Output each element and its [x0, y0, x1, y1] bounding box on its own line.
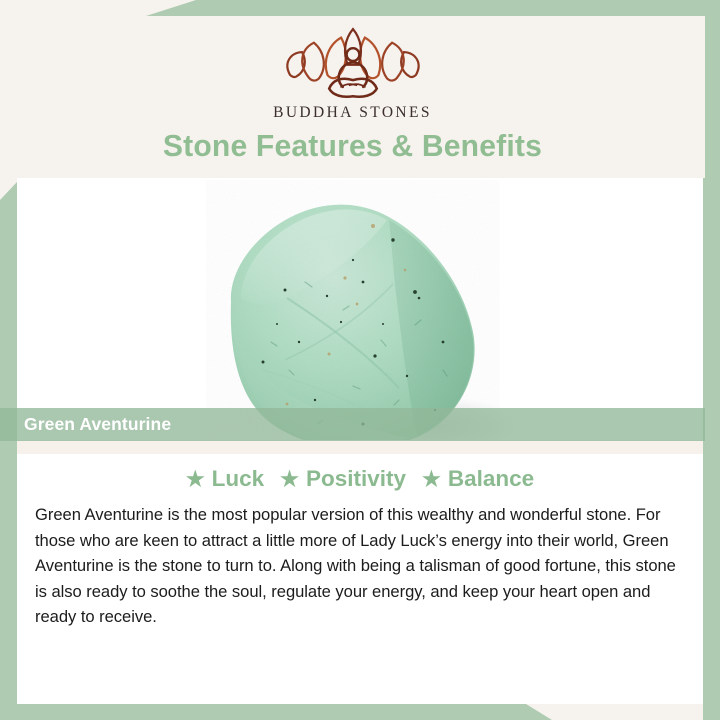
keyword-label: Luck: [212, 466, 265, 492]
keyword-balance: ★ Balance: [422, 466, 534, 492]
frame-left-bar: [0, 182, 17, 720]
section-title-wrap: Stone Features & Benefits: [0, 128, 705, 164]
stone-name-band: Green Aventurine: [0, 408, 705, 441]
page-title: Stone Features & Benefits: [163, 128, 542, 164]
star-icon: ★: [186, 469, 205, 490]
brand-name: BUDDHA STONES: [273, 104, 432, 122]
keyword-label: Positivity: [306, 466, 406, 492]
frame-right-bar: [703, 0, 720, 720]
stone-description-text: Green Aventurine is the most popular ver…: [35, 502, 687, 630]
frame-bottom-band: [0, 704, 720, 720]
green-aventurine-stone-image: [167, 178, 519, 440]
infographic-card: BUDDHA STONES Stone Features & Benefits: [0, 0, 720, 720]
brand-logo: BUDDHA STONES: [0, 24, 705, 122]
frame-top-band: [0, 0, 720, 16]
stone-description-area: ★ Luck ★ Positivity ★ Balance Green Aven…: [17, 453, 703, 704]
keyword-positivity: ★ Positivity: [280, 466, 406, 492]
star-icon: ★: [280, 469, 299, 490]
keyword-label: Balance: [448, 466, 534, 492]
keyword-luck: ★ Luck: [186, 466, 264, 492]
lotus-meditation-figure-icon: [268, 24, 438, 102]
star-icon: ★: [422, 469, 441, 490]
divider-strip: [17, 441, 703, 454]
keyword-list: ★ Luck ★ Positivity ★ Balance: [17, 466, 703, 492]
stone-name-label: Green Aventurine: [24, 414, 171, 435]
stone-photo-area: [17, 178, 703, 440]
